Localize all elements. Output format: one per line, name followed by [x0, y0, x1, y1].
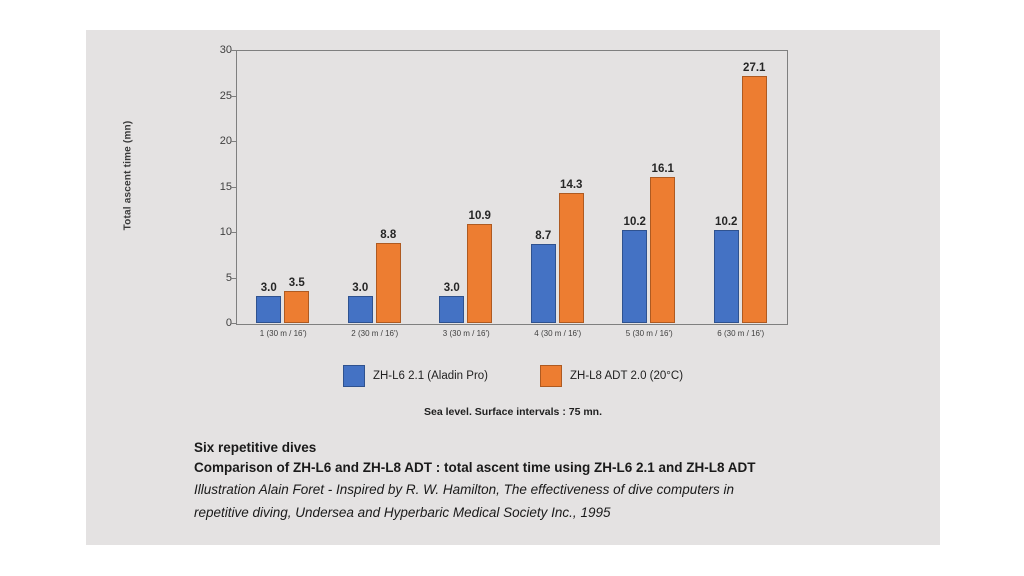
caption-line-4: repetitive diving, Undersea and Hyperbar… [194, 501, 934, 524]
y-axis-tick-mark [231, 187, 236, 188]
x-axis-label: 2 (30 m / 16') [351, 329, 398, 338]
legend-label-series-1: ZH-L6 2.1 (Aladin Pro) [373, 370, 488, 382]
chart-annotation: Sea level. Surface intervals : 75 mn. [86, 406, 940, 418]
bar-series-1[interactable]: 8.7 [531, 244, 556, 323]
y-axis-tick-mark [231, 323, 236, 324]
bar-value-label: 8.7 [535, 230, 551, 242]
bar-value-label: 3.5 [289, 277, 305, 289]
bar-group: 10.227.1 [695, 50, 787, 323]
bar-value-label: 3.0 [444, 282, 460, 294]
legend-swatch-orange-icon [540, 365, 562, 387]
bar-group: 3.08.8 [329, 50, 421, 323]
y-axis-tick-mark [231, 278, 236, 279]
y-axis-tick-label: 25 [202, 90, 232, 102]
bar-value-label: 14.3 [560, 179, 582, 191]
caption-line-3: Illustration Alain Foret - Inspired by R… [194, 478, 934, 501]
bar-value-label: 8.8 [380, 229, 396, 241]
bars-layer: 3.03.53.08.83.010.98.714.310.216.110.227… [238, 50, 787, 323]
legend-item-series-2[interactable]: ZH-L8 ADT 2.0 (20°C) [540, 365, 683, 387]
x-axis-label: 5 (30 m / 16') [626, 329, 673, 338]
legend-item-series-1[interactable]: ZH-L6 2.1 (Aladin Pro) [343, 365, 488, 387]
bar-value-label: 10.2 [715, 216, 737, 228]
y-axis-tick-mark [231, 141, 236, 142]
bar-series-2[interactable]: 8.8 [376, 243, 401, 323]
bar-series-1[interactable]: 3.0 [256, 296, 281, 323]
bar-series-2[interactable]: 14.3 [559, 193, 584, 323]
y-axis-tick-mark [231, 96, 236, 97]
bar-series-2[interactable]: 16.1 [650, 177, 675, 324]
bar-group: 3.010.9 [421, 50, 513, 323]
bar-series-2[interactable]: 3.5 [284, 291, 309, 323]
bar-value-label: 10.9 [469, 210, 491, 222]
x-axis-label: 1 (30 m / 16') [260, 329, 307, 338]
x-axis-label: 4 (30 m / 16') [534, 329, 581, 338]
bar-group: 8.714.3 [512, 50, 604, 323]
caption-block: Six repetitive dives Comparison of ZH-L6… [194, 438, 934, 524]
bar-series-1[interactable]: 10.2 [622, 230, 647, 323]
bar-series-2[interactable]: 27.1 [742, 76, 767, 323]
y-axis-tick-label: 15 [202, 181, 232, 193]
legend-label-series-2: ZH-L8 ADT 2.0 (20°C) [570, 370, 683, 382]
y-axis-tick-label: 20 [202, 135, 232, 147]
bar-value-label: 27.1 [743, 62, 765, 74]
x-axis-label: 3 (30 m / 16') [443, 329, 490, 338]
bar-series-2[interactable]: 10.9 [467, 224, 492, 323]
bar-chart: Total ascent time (mn) 051015202530 3.03… [86, 30, 940, 390]
bar-value-label: 10.2 [624, 216, 646, 228]
bar-series-1[interactable]: 3.0 [348, 296, 373, 323]
bar-group: 10.216.1 [604, 50, 696, 323]
y-axis-title: Total ascent time (mn) [123, 86, 134, 266]
slide-canvas: Total ascent time (mn) 051015202530 3.03… [86, 30, 940, 545]
y-axis-tick-label: 5 [202, 272, 232, 284]
bar-value-label: 16.1 [652, 163, 674, 175]
caption-line-2: Comparison of ZH-L6 and ZH-L8 ADT : tota… [194, 458, 934, 478]
bar-value-label: 3.0 [261, 282, 277, 294]
bar-series-1[interactable]: 3.0 [439, 296, 464, 323]
bar-group: 3.03.5 [238, 50, 330, 323]
y-axis-tick-label: 10 [202, 226, 232, 238]
chart-legend: ZH-L6 2.1 (Aladin Pro) ZH-L8 ADT 2.0 (20… [86, 365, 940, 387]
y-axis-tick-label: 30 [202, 44, 232, 56]
y-axis-tick-label: 0 [202, 317, 232, 329]
legend-swatch-blue-icon [343, 365, 365, 387]
x-axis-label: 6 (30 m / 16') [717, 329, 764, 338]
y-axis-tick-mark [231, 232, 236, 233]
bar-value-label: 3.0 [352, 282, 368, 294]
y-axis-tick-mark [231, 50, 236, 51]
bar-series-1[interactable]: 10.2 [714, 230, 739, 323]
caption-line-1: Six repetitive dives [194, 438, 934, 458]
